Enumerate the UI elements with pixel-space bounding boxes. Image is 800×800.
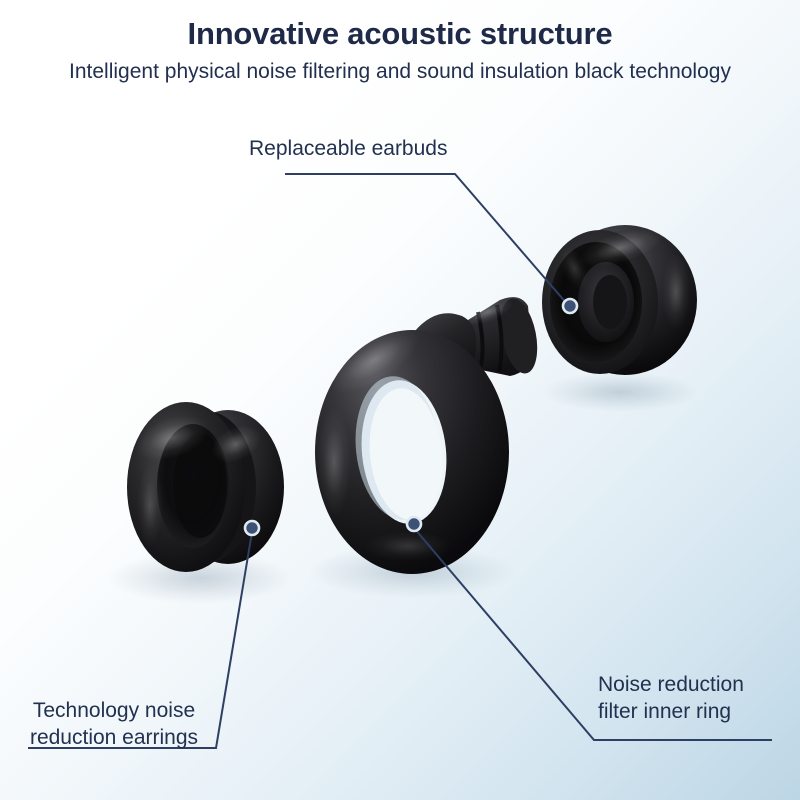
product-filter-ring [315,293,543,574]
header: Innovative acoustic structure Intelligen… [0,0,800,85]
callout-label-replaceable-earbuds: Replaceable earbuds [249,136,447,163]
infographic-canvas: Innovative acoustic structure Intelligen… [0,0,800,800]
earbud-tip-highlight-right [662,254,690,330]
leader-line-replaceable-earbuds [285,174,568,305]
product-earbud-tip [542,221,697,375]
product-ear-hook-flange [127,402,284,572]
callout-label-noise-reduction-filter-inner-ring: Noise reduction filter inner ring [598,672,778,726]
leader-marker-technology-noise-reduction-earrings [245,521,259,535]
ear-hook-highlight-left [137,463,163,547]
filter-ring-highlight-left [317,406,351,518]
shadow-earbud-tip [542,372,698,412]
leader-marker-noise-reduction-filter-inner-ring [407,517,421,531]
page-title: Innovative acoustic structure [0,0,800,52]
page-subtitle: Intelligent physical noise filtering and… [67,52,733,86]
callout-label-technology-noise-reduction-earrings: Technology noise reduction earrings [8,698,220,752]
leader-marker-replaceable-earbuds [563,299,577,313]
earbud-tip-core-center [593,275,627,329]
leader-replaceable-earbuds [285,174,577,313]
